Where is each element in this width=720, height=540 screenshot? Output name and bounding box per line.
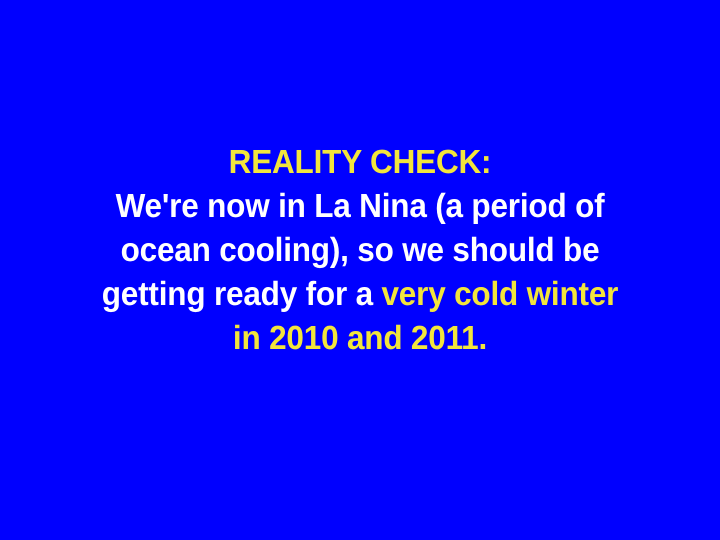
slide-text-line: We're now in La Nina (a period of (40, 185, 679, 229)
slide-text-block: REALITY CHECK:We're now in La Nina (a pe… (0, 141, 720, 361)
slide-text-line: getting ready for a very cold winter (40, 273, 679, 317)
slide-text-segment: in 2010 and 2011. (233, 320, 487, 357)
slide-text-line: REALITY CHECK: (40, 141, 679, 185)
slide-text-segment: We're now in La Nina (a period of (116, 188, 605, 225)
slide-text-segment: ocean cooling), so we should be (121, 232, 600, 269)
slide-canvas: REALITY CHECK:We're now in La Nina (a pe… (0, 0, 720, 540)
slide-text-segment: getting ready for a (102, 276, 382, 313)
slide-text-line: ocean cooling), so we should be (40, 229, 679, 273)
slide-text-segment: REALITY CHECK: (229, 144, 492, 181)
slide-text-segment: very cold winter (381, 276, 618, 313)
slide-text-line: in 2010 and 2011. (40, 317, 679, 361)
